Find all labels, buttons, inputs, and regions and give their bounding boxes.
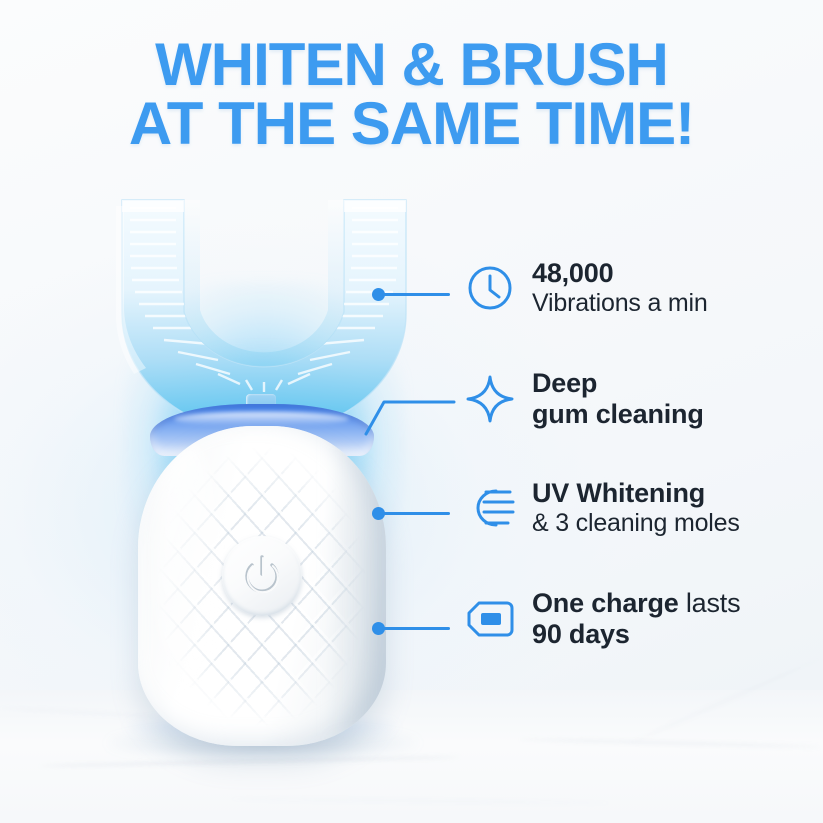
- callout-uv-whitening: UV Whitening & 3 cleaning moles: [462, 478, 740, 538]
- product-device: [96, 186, 426, 766]
- callout-text: UV Whitening & 3 cleaning moles: [532, 478, 740, 538]
- callout-text: Deep gum cleaning: [532, 368, 704, 431]
- callout-battery: One charge lasts 90 days: [462, 588, 740, 651]
- clock-icon: [462, 260, 518, 316]
- uv-rays-icon: [462, 480, 518, 536]
- callout-line1: One charge lasts: [532, 588, 740, 619]
- device-body: [138, 426, 386, 746]
- power-icon: [241, 554, 283, 598]
- headline: WHITEN & BRUSH AT THE SAME TIME!: [0, 36, 823, 154]
- sparkle-icon: [462, 371, 518, 427]
- callout-gum-cleaning: Deep gum cleaning: [462, 368, 704, 431]
- connector-line: [382, 512, 450, 515]
- connector-line: [382, 627, 450, 630]
- product-infographic: WHITEN & BRUSH AT THE SAME TIME!: [0, 0, 823, 823]
- callout-line2: & 3 cleaning moles: [532, 509, 740, 538]
- connector-line: [382, 293, 450, 296]
- callout-line2: gum cleaning: [532, 399, 704, 430]
- body-sheen: [154, 444, 224, 694]
- led-collar-highlight: [174, 412, 349, 426]
- power-button[interactable]: [222, 536, 302, 616]
- callout-text: One charge lasts 90 days: [532, 588, 740, 651]
- callout-line1: 48,000: [532, 258, 708, 289]
- callout-text: 48,000 Vibrations a min: [532, 258, 708, 318]
- connector-2: [362, 390, 458, 436]
- callout-line1: UV Whitening: [532, 478, 740, 509]
- callout-line2: Vibrations a min: [532, 289, 708, 318]
- callout-line2: 90 days: [532, 619, 740, 650]
- callout-vibrations: 48,000 Vibrations a min: [462, 258, 708, 318]
- callout-line1: Deep: [532, 368, 704, 399]
- body-shade: [326, 436, 386, 736]
- battery-icon: [462, 591, 518, 647]
